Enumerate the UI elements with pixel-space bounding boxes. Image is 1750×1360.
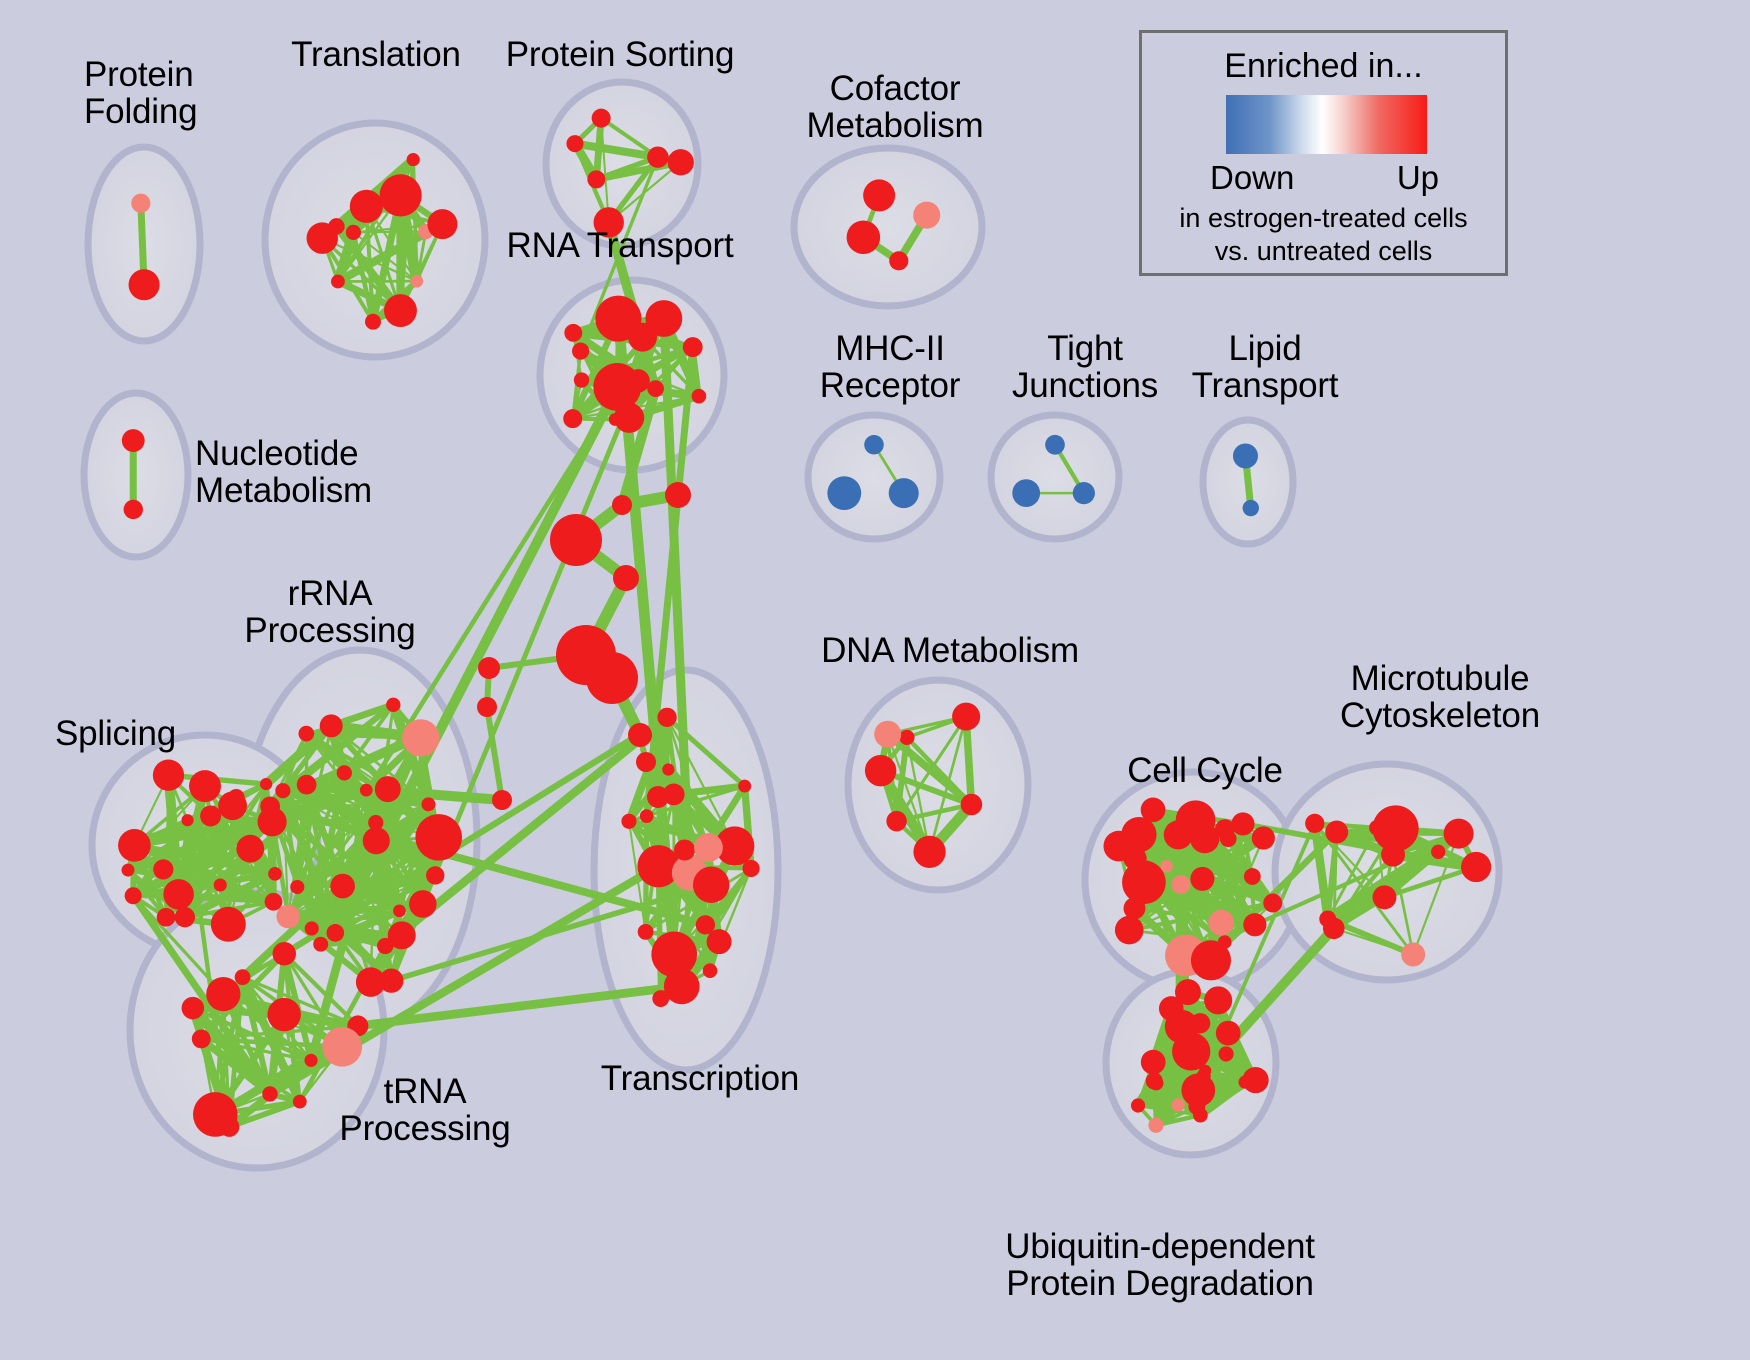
- gene-set-node-rrna-processing[interactable]: [379, 969, 403, 993]
- gene-set-node-bridge[interactable]: [647, 786, 669, 808]
- gene-set-node-transcription[interactable]: [738, 780, 751, 793]
- gene-set-node-ubiquitin-protein-degradation[interactable]: [1148, 1118, 1163, 1133]
- cluster-label-ubiquitin-protein-degradation: Ubiquitin-dependent Protein Degradation: [940, 1228, 1380, 1302]
- gene-set-node-transcription[interactable]: [693, 867, 729, 903]
- gene-set-node-transcription[interactable]: [651, 932, 697, 978]
- gene-set-node-ubiquitin-protein-degradation[interactable]: [1171, 1098, 1184, 1111]
- gene-set-node-translation[interactable]: [331, 275, 345, 289]
- gene-set-node-transcription[interactable]: [707, 929, 732, 954]
- gene-set-node-cell-cycle[interactable]: [1171, 875, 1190, 894]
- gene-set-node-transcription[interactable]: [652, 990, 669, 1007]
- gene-set-node-microtubule-cytoskeleton[interactable]: [1444, 819, 1474, 849]
- gene-set-node-splicing[interactable]: [214, 878, 227, 891]
- gene-set-node-mhc-ii-receptor[interactable]: [864, 435, 884, 455]
- gene-set-node-cell-cycle[interactable]: [1190, 824, 1219, 853]
- gene-set-node-translation[interactable]: [380, 174, 422, 216]
- gene-set-node-splicing[interactable]: [153, 760, 184, 791]
- gene-set-node-protein-sorting[interactable]: [566, 135, 583, 152]
- gene-set-node-dna-metabolism[interactable]: [886, 811, 906, 831]
- gene-set-node-rrna-processing[interactable]: [421, 797, 435, 811]
- gene-set-node-transcription[interactable]: [638, 924, 654, 940]
- gene-set-node-rrna-processing[interactable]: [276, 905, 300, 929]
- gene-set-node-transcription[interactable]: [694, 833, 723, 862]
- gene-set-node-ubiquitin-protein-degradation[interactable]: [1165, 1010, 1199, 1044]
- gene-set-node-translation[interactable]: [365, 314, 381, 330]
- gene-set-node-ubiquitin-protein-degradation[interactable]: [1204, 986, 1232, 1014]
- cluster-ellipse-tight-junctions: [991, 415, 1119, 539]
- gene-set-node-splicing[interactable]: [175, 907, 195, 927]
- gene-set-node-rna-transport[interactable]: [563, 409, 582, 428]
- gene-set-node-splicing[interactable]: [153, 859, 173, 879]
- gene-set-node-rrna-processing[interactable]: [326, 924, 344, 942]
- gene-set-node-trna-processing[interactable]: [272, 942, 296, 966]
- gene-set-node-rrna-processing[interactable]: [363, 827, 390, 854]
- legend-caption-line2: vs. untreated cells: [1142, 236, 1505, 267]
- gene-set-node-translation[interactable]: [350, 190, 383, 223]
- gene-set-node-transcription[interactable]: [621, 814, 636, 829]
- gene-set-node-cofactor-metabolism[interactable]: [913, 202, 940, 229]
- gene-set-node-trna-processing[interactable]: [206, 977, 240, 1011]
- gene-set-node-cell-cycle[interactable]: [1252, 826, 1275, 849]
- gene-set-node-cell-cycle[interactable]: [1231, 812, 1254, 835]
- gene-set-node-tight-junctions[interactable]: [1045, 435, 1065, 455]
- gene-set-node-transcription[interactable]: [674, 839, 695, 860]
- gene-set-node-translation[interactable]: [346, 225, 361, 240]
- gene-set-node-dna-metabolism[interactable]: [899, 730, 914, 745]
- gene-set-node-protein-folding[interactable]: [131, 194, 150, 213]
- gene-set-node-rrna-processing[interactable]: [426, 866, 444, 884]
- gene-set-node-translation[interactable]: [384, 294, 417, 327]
- gene-set-node-bridge[interactable]: [628, 723, 652, 747]
- gene-set-node-rrna-processing[interactable]: [337, 765, 352, 780]
- cluster-label-cell-cycle: Cell Cycle: [1085, 752, 1325, 789]
- gene-set-node-rrna-processing[interactable]: [375, 776, 401, 802]
- gene-set-node-dna-metabolism[interactable]: [865, 755, 896, 786]
- gene-set-node-cell-cycle[interactable]: [1141, 798, 1166, 823]
- cluster-label-dna-metabolism: DNA Metabolism: [800, 632, 1100, 669]
- gene-set-node-rrna-processing[interactable]: [290, 880, 304, 894]
- gene-set-node-trna-processing[interactable]: [304, 1054, 317, 1067]
- gene-set-node-splicing[interactable]: [257, 807, 286, 836]
- gene-set-node-lipid-transport[interactable]: [1243, 500, 1259, 516]
- cluster-label-cofactor-metabolism: Cofactor Metabolism: [760, 70, 1030, 144]
- gene-set-node-microtubule-cytoskeleton[interactable]: [1431, 845, 1445, 859]
- gene-set-node-splicing[interactable]: [118, 829, 151, 862]
- gene-set-node-cell-cycle[interactable]: [1244, 868, 1261, 885]
- gene-set-node-bridge[interactable]: [478, 657, 500, 679]
- gene-set-node-splicing[interactable]: [268, 867, 282, 881]
- gene-set-node-dna-metabolism[interactable]: [961, 794, 983, 816]
- gene-set-node-cell-cycle[interactable]: [1190, 867, 1214, 891]
- gene-set-node-transcription[interactable]: [703, 963, 718, 978]
- gene-set-node-dna-metabolism[interactable]: [874, 721, 901, 748]
- gene-set-node-microtubule-cytoskeleton[interactable]: [1401, 943, 1425, 967]
- gene-set-node-dna-metabolism[interactable]: [913, 836, 945, 868]
- gene-set-node-rrna-processing[interactable]: [320, 714, 343, 737]
- gene-set-node-microtubule-cytoskeleton[interactable]: [1461, 852, 1491, 882]
- gene-set-node-rna-transport[interactable]: [564, 324, 582, 342]
- gene-set-node-trna-processing[interactable]: [182, 997, 205, 1020]
- gene-set-node-splicing[interactable]: [157, 908, 176, 927]
- gene-set-node-rrna-processing[interactable]: [377, 938, 393, 954]
- cluster-label-lipid-transport: Lipid Transport: [1150, 330, 1380, 404]
- gene-set-node-bridge[interactable]: [665, 482, 691, 508]
- gene-set-node-ubiquitin-protein-degradation[interactable]: [1172, 1015, 1184, 1027]
- gene-set-node-tight-junctions[interactable]: [1012, 479, 1040, 507]
- gene-set-node-cell-cycle[interactable]: [1115, 916, 1144, 945]
- legend-low-label: Down: [1210, 159, 1294, 197]
- gene-set-node-splicing[interactable]: [181, 814, 193, 826]
- gene-set-node-microtubule-cytoskeleton[interactable]: [1325, 821, 1348, 844]
- gene-set-node-ubiquitin-protein-degradation[interactable]: [1216, 1021, 1241, 1046]
- gene-set-node-protein-sorting[interactable]: [587, 170, 605, 188]
- gene-set-node-trna-processing[interactable]: [267, 998, 300, 1031]
- gene-set-node-splicing[interactable]: [125, 887, 142, 904]
- gene-set-node-splicing[interactable]: [122, 864, 135, 877]
- gene-set-node-rrna-processing[interactable]: [297, 775, 317, 795]
- gene-set-node-rna-transport[interactable]: [692, 389, 707, 404]
- gene-set-node-tight-junctions[interactable]: [1073, 482, 1095, 504]
- gene-set-node-rrna-processing[interactable]: [409, 890, 437, 918]
- gene-set-node-cell-cycle[interactable]: [1124, 897, 1146, 919]
- legend-title: Enriched in...: [1142, 47, 1505, 86]
- cluster-label-trna-processing: tRNA Processing: [300, 1073, 550, 1147]
- gene-set-node-splicing[interactable]: [218, 791, 247, 820]
- gene-set-node-rrna-processing[interactable]: [305, 921, 319, 935]
- gene-set-node-rna-transport[interactable]: [683, 337, 703, 357]
- gene-set-node-rrna-processing[interactable]: [368, 815, 383, 830]
- gene-set-node-rna-transport[interactable]: [574, 372, 589, 387]
- gene-set-node-rna-transport[interactable]: [645, 300, 682, 337]
- gene-set-node-cell-cycle[interactable]: [1160, 860, 1172, 872]
- gene-set-node-trna-processing[interactable]: [322, 1027, 362, 1067]
- gene-set-node-transcription[interactable]: [640, 809, 654, 823]
- gene-set-node-rna-transport[interactable]: [647, 380, 664, 397]
- gene-set-node-cell-cycle[interactable]: [1220, 830, 1237, 847]
- legend-high-label: Up: [1397, 159, 1439, 197]
- gene-set-node-microtubule-cytoskeleton[interactable]: [1372, 885, 1396, 909]
- gene-set-node-translation[interactable]: [407, 153, 420, 166]
- gene-set-node-cofactor-metabolism[interactable]: [863, 179, 895, 211]
- cluster-label-nucleotide-metabolism: Nucleotide Metabolism: [195, 435, 495, 509]
- gene-set-node-bridge[interactable]: [612, 495, 632, 515]
- gene-set-node-rrna-processing[interactable]: [330, 874, 355, 899]
- gene-set-node-cofactor-metabolism[interactable]: [889, 251, 908, 270]
- gene-set-node-trna-processing[interactable]: [262, 1086, 277, 1101]
- gene-set-node-rna-transport[interactable]: [609, 413, 622, 426]
- gene-set-node-protein-sorting[interactable]: [592, 109, 611, 128]
- gene-set-node-splicing[interactable]: [189, 770, 221, 802]
- gene-set-node-mhc-ii-receptor[interactable]: [889, 478, 919, 508]
- gene-set-node-mhc-ii-receptor[interactable]: [827, 476, 861, 510]
- cluster-label-rrna-processing: rRNA Processing: [215, 575, 445, 649]
- cluster-label-mhc-ii-receptor: MHC-II Receptor: [775, 330, 1005, 404]
- gene-set-node-microtubule-cytoskeleton[interactable]: [1305, 814, 1324, 833]
- gene-set-node-cell-cycle[interactable]: [1208, 910, 1234, 936]
- cluster-label-splicing: Splicing: [55, 715, 255, 752]
- gene-set-node-rrna-processing[interactable]: [313, 937, 328, 952]
- gene-set-node-rrna-processing[interactable]: [386, 698, 400, 712]
- gene-set-node-protein-sorting[interactable]: [668, 149, 694, 175]
- gene-set-node-nucleotide-metabolism[interactable]: [122, 429, 145, 452]
- gene-set-node-translation[interactable]: [411, 275, 424, 288]
- cluster-ellipse-mhc-ii-receptor: [808, 415, 940, 539]
- gene-set-node-bridge[interactable]: [477, 697, 497, 717]
- legend-panel: Enriched in... Down Up in estrogen-treat…: [1139, 30, 1508, 276]
- gene-set-node-bridge[interactable]: [492, 790, 512, 810]
- gene-set-node-ubiquitin-protein-degradation[interactable]: [1149, 1076, 1164, 1091]
- gene-set-node-cell-cycle[interactable]: [1263, 894, 1282, 913]
- enrichment-map-figure: Protein FoldingTranslationProtein Sortin…: [0, 0, 1750, 1360]
- cluster-ellipse-cofactor-metabolism: [794, 148, 982, 306]
- gene-set-node-splicing[interactable]: [200, 805, 221, 826]
- gene-set-node-rna-transport[interactable]: [595, 296, 641, 342]
- gene-set-node-transcription[interactable]: [657, 708, 676, 727]
- gene-set-node-rrna-processing[interactable]: [415, 814, 462, 861]
- gene-set-node-nucleotide-metabolism[interactable]: [124, 500, 143, 519]
- gene-set-node-cell-cycle[interactable]: [1191, 940, 1231, 980]
- cluster-label-microtubule-cytoskeleton: Microtubule Cytoskeleton: [1290, 660, 1590, 734]
- gene-set-node-trna-processing[interactable]: [235, 969, 251, 985]
- gene-set-node-dna-metabolism[interactable]: [952, 703, 980, 731]
- gene-set-node-protein-sorting[interactable]: [647, 146, 668, 167]
- gene-set-node-lipid-transport[interactable]: [1233, 443, 1258, 468]
- gene-set-node-ubiquitin-protein-degradation[interactable]: [1141, 1050, 1166, 1075]
- gene-set-node-ubiquitin-protein-degradation[interactable]: [1131, 1098, 1145, 1112]
- gene-set-node-splicing[interactable]: [211, 907, 246, 942]
- gene-set-node-cofactor-metabolism[interactable]: [847, 221, 881, 255]
- gene-set-node-microtubule-cytoskeleton[interactable]: [1373, 805, 1419, 851]
- gene-set-node-ubiquitin-protein-degradation[interactable]: [1219, 1046, 1234, 1061]
- gene-set-node-ubiquitin-protein-degradation[interactable]: [1239, 1076, 1252, 1089]
- gene-set-node-rrna-processing[interactable]: [275, 783, 290, 798]
- gene-set-node-microtubule-cytoskeleton[interactable]: [1323, 918, 1345, 940]
- gene-set-node-ubiquitin-protein-degradation[interactable]: [1188, 1098, 1205, 1115]
- gene-set-node-bridge[interactable]: [586, 652, 638, 704]
- gene-set-node-rrna-processing[interactable]: [402, 719, 439, 756]
- gene-set-node-cell-cycle[interactable]: [1123, 847, 1146, 870]
- cluster-label-rna-transport: RNA Transport: [430, 227, 810, 264]
- gene-set-node-rrna-processing[interactable]: [298, 726, 314, 742]
- gene-set-node-translation[interactable]: [328, 218, 344, 234]
- legend-caption-line1: in estrogen-treated cells: [1142, 203, 1505, 234]
- gene-set-node-bridge[interactable]: [613, 565, 639, 591]
- gene-set-node-trna-processing[interactable]: [193, 1092, 238, 1137]
- gene-set-node-cell-cycle[interactable]: [1164, 820, 1193, 849]
- gene-set-node-transcription[interactable]: [662, 763, 674, 775]
- gene-set-node-bridge[interactable]: [636, 752, 656, 772]
- gene-set-node-ubiquitin-protein-degradation[interactable]: [1175, 979, 1201, 1005]
- gene-set-node-protein-folding[interactable]: [129, 269, 160, 300]
- gene-set-node-rrna-processing[interactable]: [360, 784, 373, 797]
- gene-set-node-cell-cycle[interactable]: [1243, 913, 1266, 936]
- gene-set-node-splicing[interactable]: [265, 893, 283, 911]
- gene-set-node-bridge[interactable]: [550, 514, 602, 566]
- legend-color-gradient-bar: [1226, 95, 1427, 154]
- gene-set-node-splicing[interactable]: [260, 778, 272, 790]
- gene-set-node-splicing[interactable]: [236, 835, 264, 863]
- cluster-label-protein-sorting: Protein Sorting: [430, 36, 810, 73]
- cluster-label-transcription: Transcription: [555, 1060, 845, 1097]
- gene-set-node-trna-processing[interactable]: [192, 1029, 211, 1048]
- gene-set-node-rrna-processing[interactable]: [393, 905, 406, 918]
- gene-set-node-rna-transport[interactable]: [572, 343, 589, 360]
- gene-set-node-splicing[interactable]: [163, 879, 194, 910]
